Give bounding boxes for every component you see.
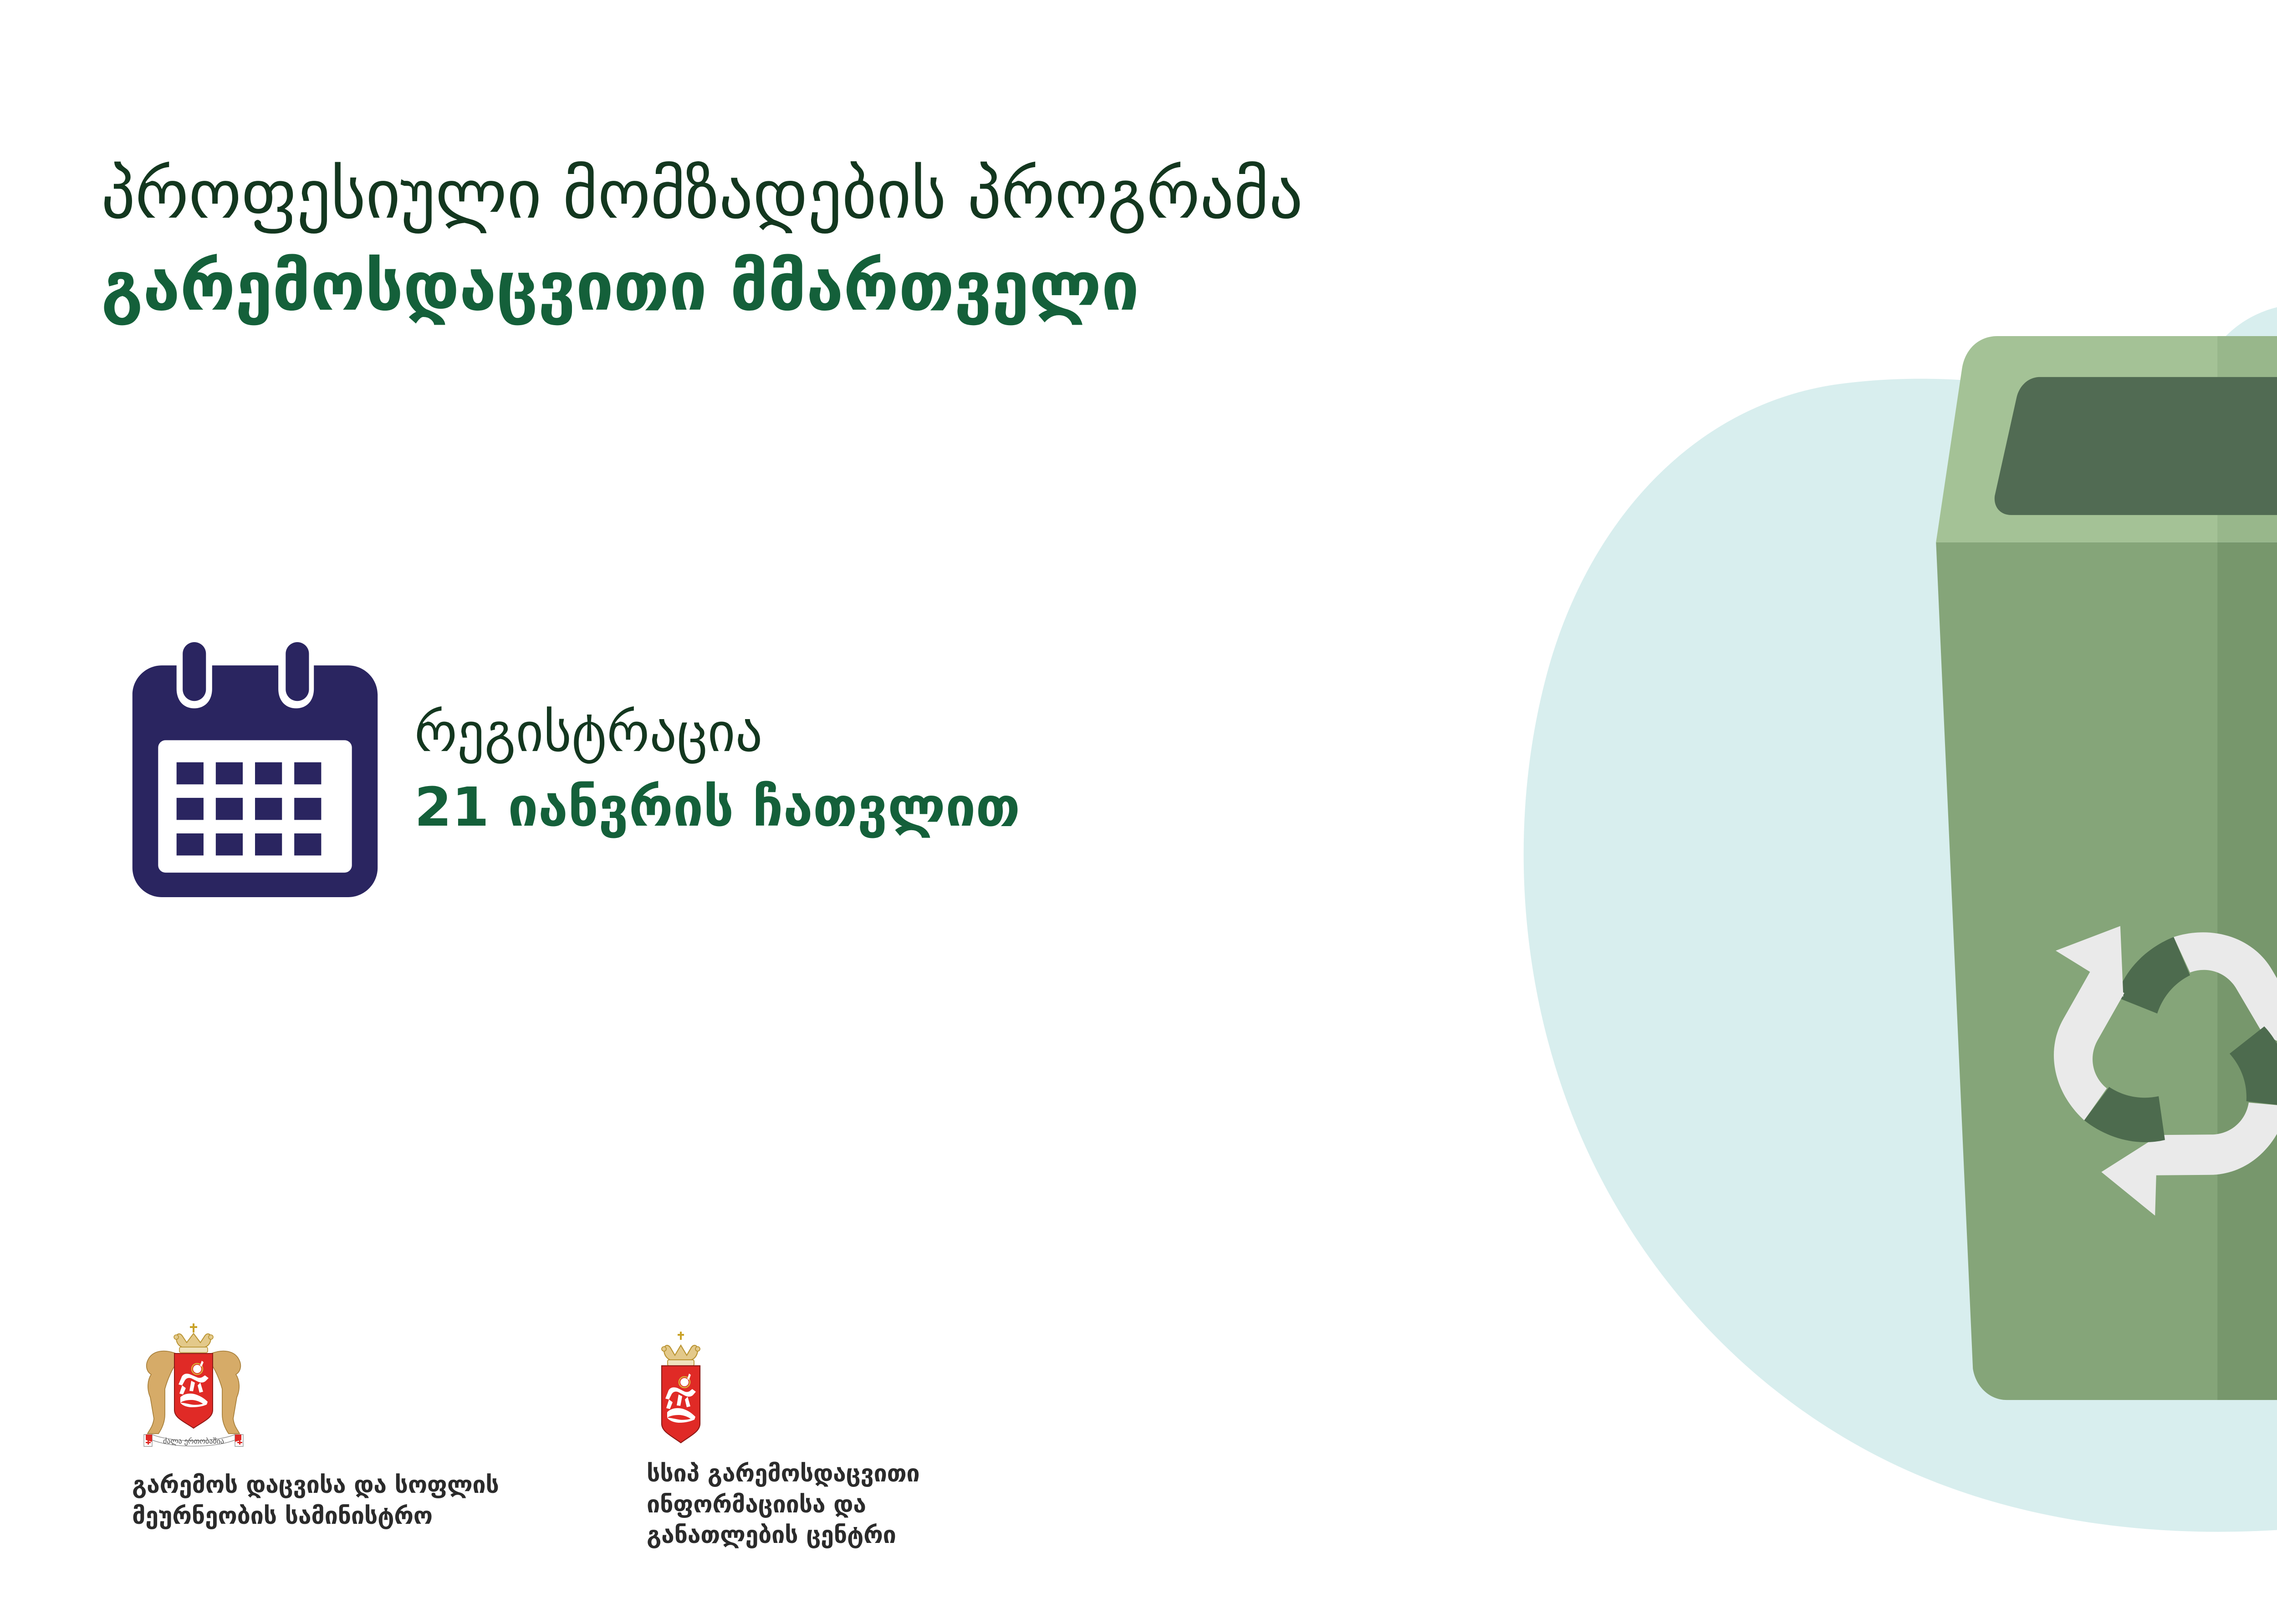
calendar-icon (114, 642, 396, 897)
logo-ministry-caption-line-1: გარემოს დაცვისა და სოფლის (132, 1470, 587, 1501)
shield-icon (662, 1366, 700, 1443)
registration-block: რეგისტრაცია 21 იანვრის ჩათვლით (114, 642, 1020, 897)
logo-center-caption-line-3: განათლების ცენტრი (647, 1520, 1057, 1551)
motto-text: ძალა ერთობაშია (163, 1437, 224, 1445)
promo-banner: პროფესიული მომზადების პროგრამა გარემოსდა… (0, 0, 2277, 1624)
georgia-coat-of-arms-icon: ძალა ერთობაშია (132, 1321, 255, 1462)
headline-block: პროფესიული მომზადების პროგრამა გარემოსდა… (101, 150, 1923, 331)
footer-logos: ძალა ერთობაშია გარემოს დაცვისა და სოფლის… (0, 1321, 1184, 1603)
crown-icon (174, 1323, 213, 1353)
logo-center-caption: სსიპ გარემოსდაცვითი ინფორმაციისა და განა… (647, 1459, 1057, 1551)
logo-center-caption-line-1: სსიპ გარემოსდაცვითი (647, 1459, 1057, 1490)
motto-banner: ძალა ერთობაშია (144, 1435, 243, 1446)
page-title-line-2: გარემოსდაცვითი მმართველი (101, 243, 1923, 330)
page-title-line-1: პროფესიული მომზადების პროგრამა (101, 150, 1923, 239)
georgia-crowned-shield-icon (647, 1330, 715, 1450)
logo-ministry: ძალა ერთობაშია გარემოს დაცვისა და სოფლის… (132, 1321, 587, 1532)
logo-center-caption-line-2: ინფორმაციისა და (647, 1490, 1057, 1521)
logo-ministry-caption-line-2: მეურნეობის სამინისტრო (132, 1501, 587, 1532)
registration-label: რეგისტრაცია (414, 696, 1020, 768)
logo-ministry-caption: გარემოს დაცვისა და სოფლის მეურნეობის სამ… (132, 1470, 587, 1532)
crown-icon (662, 1332, 700, 1366)
registration-deadline: 21 იანვრის ჩათვლით (414, 771, 1020, 843)
registration-text: რეგისტრაცია 21 იანვრის ჩათვლით (414, 696, 1020, 843)
bin-opening (1995, 377, 2277, 515)
illustration-area (1503, 273, 2277, 1624)
recycling-bin (1936, 336, 2277, 1400)
logo-center: სსიპ გარემოსდაცვითი ინფორმაციისა და განა… (647, 1330, 1057, 1551)
